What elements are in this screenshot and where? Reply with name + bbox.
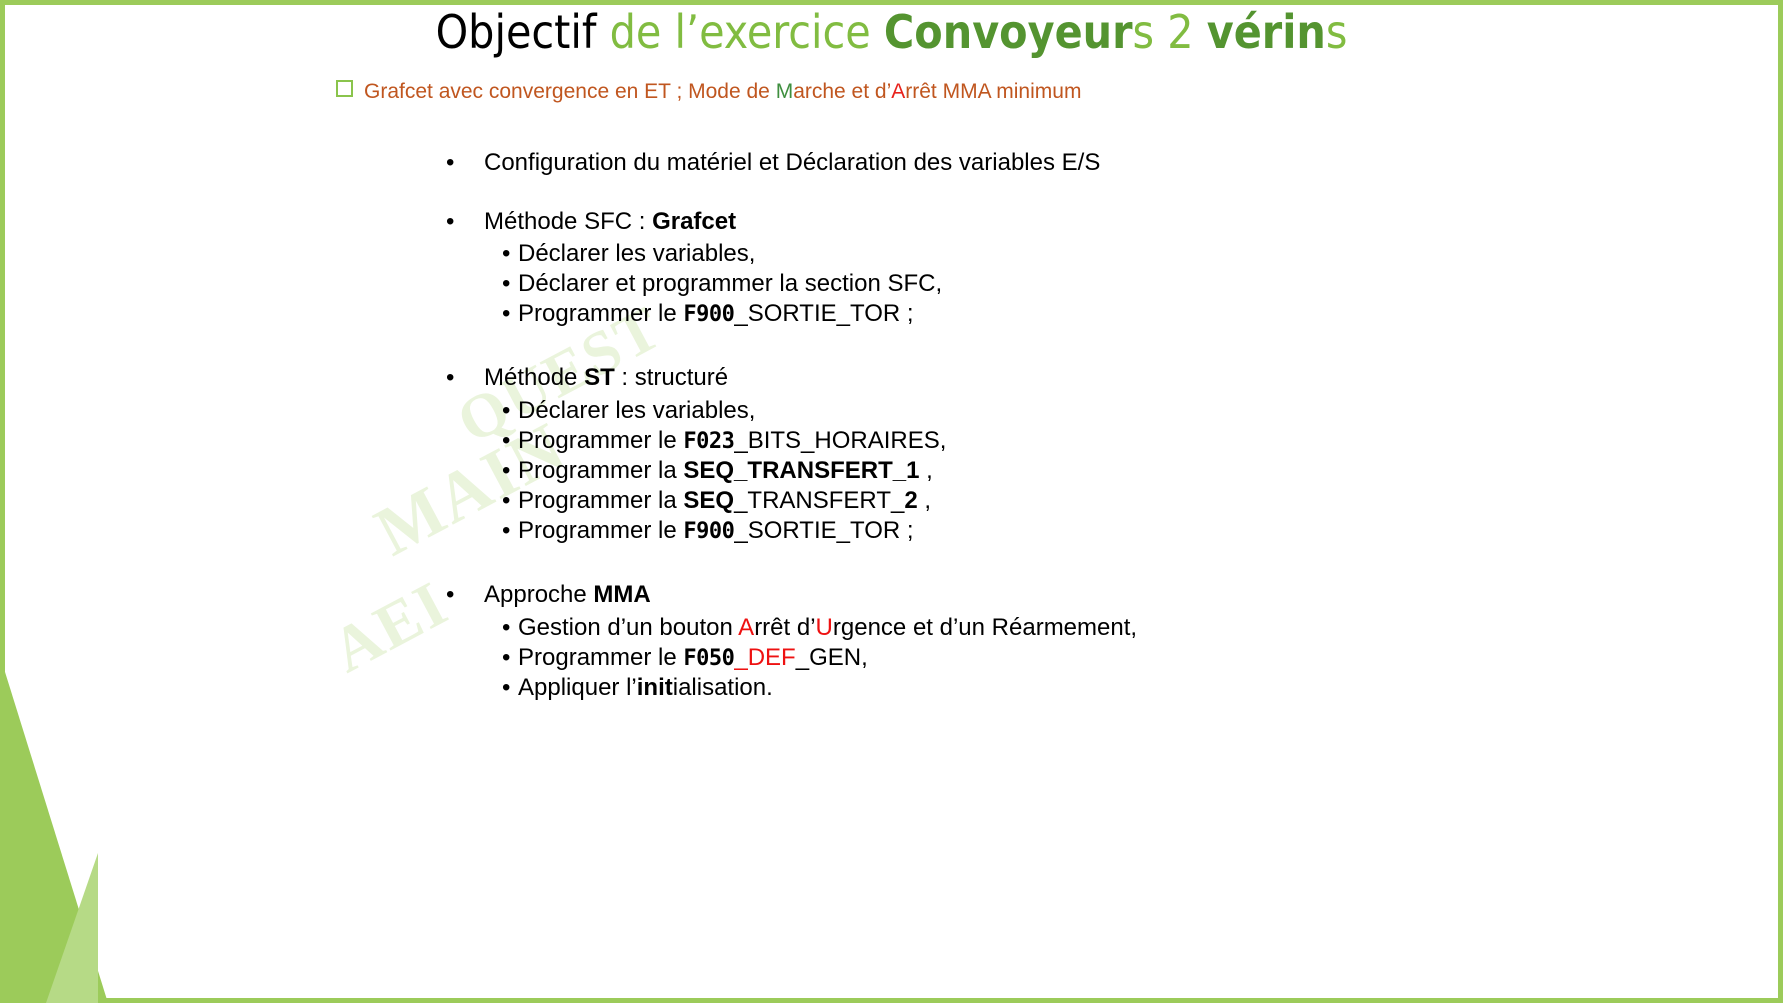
st-sub-f900: •Programmer le F900_SORTIE_TOR ; (440, 516, 1590, 546)
square-bullet-icon (336, 80, 353, 97)
methode-sfc-prefix: Méthode SFC : (484, 208, 652, 235)
st-sub-5-suffix: _SORTIE_TOR ; (734, 517, 913, 544)
subtitle-text-b: arche et d’ (793, 80, 891, 103)
st-sub-3-suffix: , (919, 457, 932, 484)
st-sub-f023: •Programmer le F023_BITS_HORAIRES, (440, 426, 1590, 456)
st-sub-declarer-variables: •Déclarer les variables, (440, 396, 1590, 426)
approche-mma-value: MMA (593, 581, 650, 608)
mma-sub-1-b: rrêt d’ (754, 614, 815, 641)
subtitle-text-a: Grafcet avec convergence en ET ; Mode de (364, 80, 776, 103)
sfc-sub-declarer-variables: •Déclarer les variables, (440, 239, 1590, 269)
title-part-verin: vérin (1207, 5, 1326, 59)
st-sub-4-mid: _TRANSFERT_ (734, 487, 904, 514)
st-sub-4-bold-seq: SEQ (683, 487, 734, 514)
slide-border-bottom (0, 998, 1783, 1003)
mma-sub-2-code: F050 (683, 646, 734, 671)
sfc-sub-section-sfc: •Déclarer et programmer la section SFC, (440, 269, 1590, 299)
bullet-methode-st: • Méthode ST : structuré (440, 363, 1590, 394)
mma-sub-2-prefix: Programmer le (518, 644, 683, 671)
sfc-sub-1-label: Déclarer les variables, (518, 240, 755, 267)
bullet-dot-icon: • (446, 207, 454, 238)
mma-sub-3-bold: init (637, 674, 673, 701)
bullet-dot-icon: • (502, 486, 510, 516)
mma-sub-2-suffix: _GEN, (796, 644, 868, 671)
title-part-exercice: de l’exercice (610, 5, 884, 59)
slide-title: Objectif de l’exercice Convoyeurs 2 véri… (0, 8, 1783, 56)
spacer (440, 329, 1590, 363)
mma-sub-1-a: Gestion d’un bouton (518, 614, 738, 641)
bullet-dot-icon: • (502, 673, 510, 703)
methode-sfc-value: Grafcet (652, 208, 736, 235)
st-sub-5-prefix: Programmer le (518, 517, 683, 544)
sfc-sub-3-suffix: _SORTIE_TOR ; (734, 300, 913, 327)
subtitle-marche-initial: M (776, 80, 794, 103)
methode-st-suffix: : structuré (615, 364, 728, 391)
bullet-methode-sfc: •Méthode SFC : Grafcet (440, 207, 1590, 238)
slide-canvas: QUEST MAIN AEI Objectif de l’exercice Co… (0, 0, 1783, 1003)
bullet-dot-icon: • (446, 148, 454, 179)
st-sub-seq-transfert-2: •Programmer la SEQ_TRANSFERT_2 , (440, 486, 1590, 516)
bullet-dot-icon: • (502, 396, 510, 426)
sfc-sub-3-prefix: Programmer le (518, 300, 683, 327)
st-sub-2-suffix: _BITS_HORAIRES, (734, 427, 946, 454)
decorative-triangle-inner (46, 853, 98, 1003)
title-part-objectif: Objectif (436, 5, 610, 59)
st-sub-4-prefix: Programmer la (518, 487, 683, 514)
mma-sub-1-c: rgence et d’un Réarmement, (833, 614, 1137, 641)
st-sub-3-prefix: Programmer la (518, 457, 683, 484)
st-sub-2-prefix: Programmer le (518, 427, 683, 454)
mma-sub-3-prefix: Appliquer l’ (518, 674, 637, 701)
mma-sub-2-def: _DEF (734, 644, 795, 671)
bullet-configuration-label: Configuration du matériel et Déclaration… (484, 149, 1100, 176)
st-sub-seq-transfert-1: •Programmer la SEQ_TRANSFERT_1 , (440, 456, 1590, 486)
st-sub-3-value: SEQ_TRANSFERT_1 (683, 457, 919, 484)
bullet-dot-icon: • (502, 426, 510, 456)
title-part-s2: s 2 (1133, 5, 1207, 59)
st-sub-1-label: Déclarer les variables, (518, 397, 755, 424)
methode-st-value: ST (584, 364, 615, 391)
bullet-dot-icon: • (502, 269, 510, 299)
spacer (440, 181, 1590, 207)
mma-sub-arret-urgence: •Gestion d’un bouton Arrêt d’Urgence et … (440, 613, 1590, 643)
bullet-dot-icon: • (446, 363, 454, 394)
st-sub-4-suffix: , (918, 487, 931, 514)
slide-border-right (1778, 0, 1783, 1003)
st-sub-4-bold-index: 2 (904, 487, 917, 514)
methode-st-prefix: Méthode (484, 364, 584, 391)
bullet-dot-icon: • (446, 580, 454, 611)
sfc-sub-3-code: F900 (683, 302, 734, 327)
subtitle-arret-initial: A (891, 80, 905, 103)
mma-sub-3-suffix: ialisation. (673, 674, 773, 701)
bullet-dot-icon: • (502, 299, 510, 329)
bullet-dot-icon: • (502, 516, 510, 546)
bullet-approche-mma: •Approche MMA (440, 580, 1590, 611)
sfc-sub-2-label: Déclarer et programmer la section SFC, (518, 270, 942, 297)
slide-body: •Configuration du matériel et Déclaratio… (440, 148, 1590, 703)
title-part-s-final: s (1326, 5, 1348, 59)
mma-sub-1-urgence-initial: U (816, 614, 833, 641)
st-sub-2-code: F023 (683, 429, 734, 454)
approche-mma-prefix: Approche (484, 581, 593, 608)
sfc-sub-f900: •Programmer le F900_SORTIE_TOR ; (440, 299, 1590, 329)
bullet-dot-icon: • (502, 643, 510, 673)
mma-sub-initialisation: •Appliquer l’initialisation. (440, 673, 1590, 703)
slide-subtitle: Grafcet avec convergence en ET ; Mode de… (336, 80, 1081, 104)
title-part-convoyeur: Convoyeur (884, 5, 1133, 59)
bullet-dot-icon: • (502, 613, 510, 643)
bullet-configuration: •Configuration du matériel et Déclaratio… (440, 148, 1590, 179)
spacer (440, 546, 1590, 580)
subtitle-text-c: rrêt MMA minimum (905, 80, 1081, 103)
bullet-dot-icon: • (502, 456, 510, 486)
mma-sub-1-arret-initial: A (738, 614, 754, 641)
mma-sub-f050: •Programmer le F050_DEF_GEN, (440, 643, 1590, 673)
st-sub-5-code: F900 (683, 519, 734, 544)
bullet-dot-icon: • (502, 239, 510, 269)
